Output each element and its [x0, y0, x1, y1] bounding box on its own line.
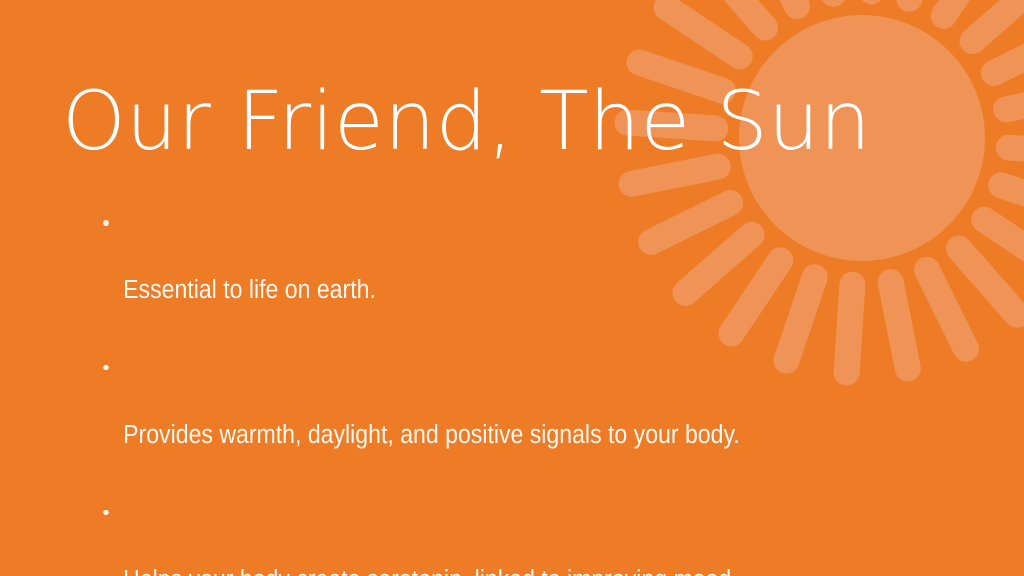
- list-item-label: Essential to life on earth.: [123, 273, 892, 307]
- sun-ray: [1009, 148, 1024, 154]
- sun-ray: [984, 220, 1024, 269]
- bullet-dot-icon: [103, 510, 108, 516]
- list-item-label: Provides warmth, daylight, and positive …: [123, 418, 892, 452]
- sun-ray: [758, 0, 797, 6]
- sun-ray: [973, 0, 1024, 41]
- sun-ray: [994, 34, 1024, 73]
- bullet-list: Essential to life on earth. Provides war…: [96, 205, 976, 576]
- sun-ray: [667, 7, 740, 56]
- slide-canvas: Our Friend, The Sun Essential to life on…: [0, 0, 1024, 576]
- page-title: Our Friend, The Sun: [62, 82, 871, 163]
- sun-ray: [707, 0, 765, 27]
- sun-ray: [1001, 185, 1024, 213]
- list-item: Helps your body create serotonin, linked…: [96, 494, 892, 576]
- bullet-dot-icon: [103, 220, 108, 226]
- sun-ray: [632, 167, 718, 184]
- list-item-label: Helps your body create serotonin, linked…: [123, 563, 892, 576]
- sun-ray: [1006, 92, 1024, 109]
- sun-ray: [944, 0, 993, 16]
- list-item: Provides warmth, daylight, and positive …: [96, 350, 892, 487]
- list-item: Essential to life on earth.: [96, 205, 892, 342]
- bullet-dot-icon: [103, 365, 108, 371]
